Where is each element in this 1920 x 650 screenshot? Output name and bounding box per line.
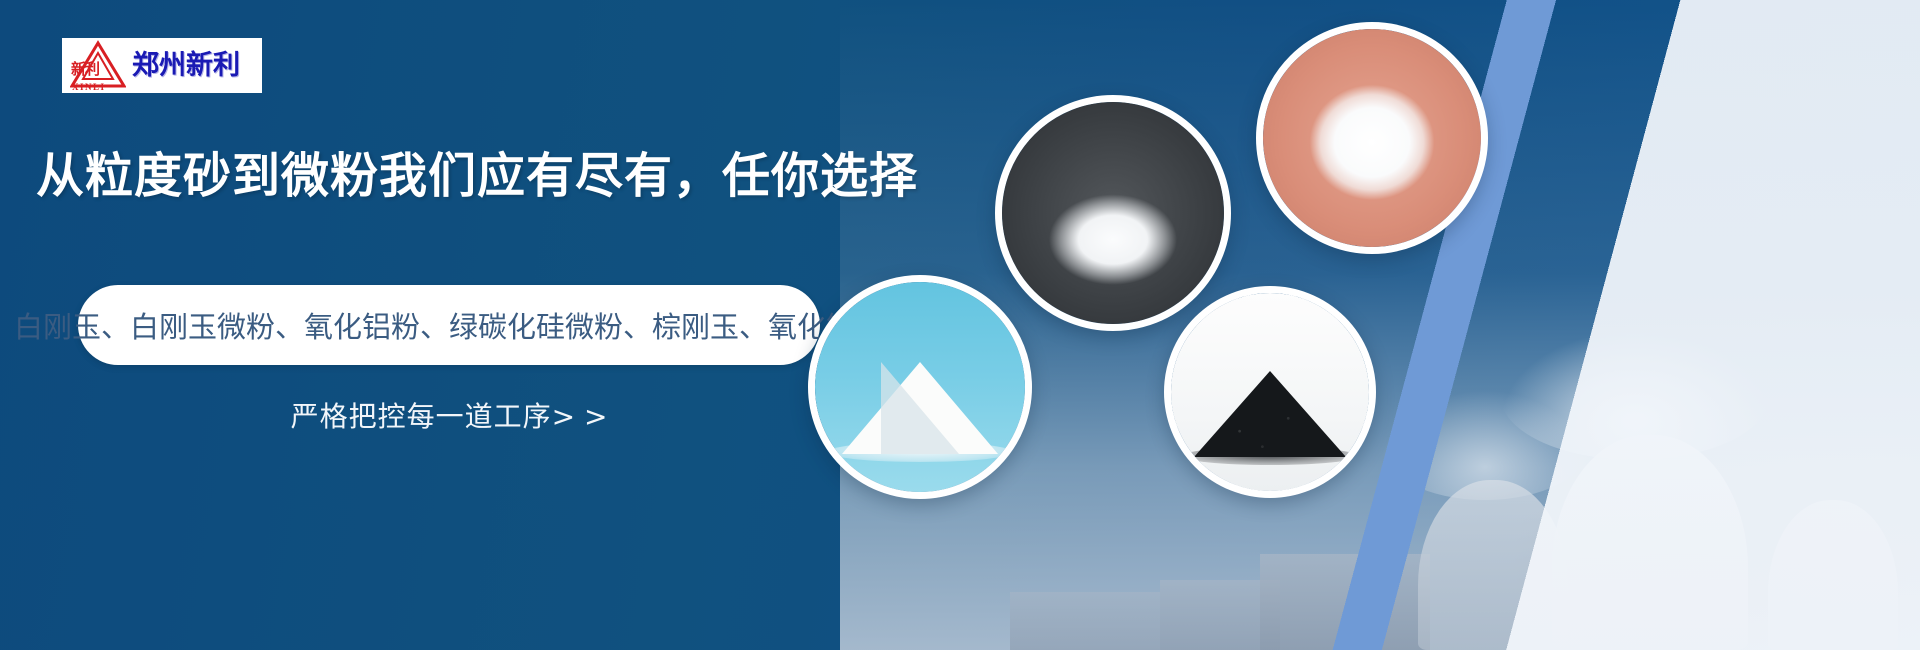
company-name: 郑州新利	[132, 51, 240, 81]
chevron-right-icon: > >	[552, 400, 608, 433]
product-photo-white-grain[interactable]	[995, 95, 1231, 331]
powder-cone-shade	[881, 362, 959, 454]
product-list-pill: 白刚玉、白刚玉微粉、氧化铝粉、绿碳化硅微粉、棕刚玉、氧化锆等	[78, 285, 820, 365]
product-photo-black-grit[interactable]	[1164, 286, 1376, 498]
product-photo-image	[815, 282, 1025, 492]
company-logo[interactable]: 新利 XINLI 郑州新利	[62, 38, 262, 93]
cta-link[interactable]: 严格把控每一道工序> >	[78, 395, 820, 435]
logo-mark-en: XINLI	[72, 83, 106, 92]
product-photo-image	[1263, 29, 1481, 247]
product-list-text: 白刚玉、白刚玉微粉、氧化铝粉、绿碳化硅微粉、棕刚玉、氧化锆等	[14, 304, 884, 346]
product-photo-image	[1002, 102, 1224, 324]
product-photo-white-cone[interactable]	[808, 275, 1032, 499]
page-title: 从粒度砂到微粉我们应有尽有，任你选择	[36, 145, 918, 207]
cta-label: 严格把控每一道工序	[291, 400, 552, 433]
triangle-logo-icon: 新利 XINLI	[70, 40, 126, 91]
product-photo-image	[1171, 293, 1369, 491]
logo-mark-cn: 新利	[71, 62, 99, 77]
promo-banner: 新利 XINLI 郑州新利 从粒度砂到微粉我们应有尽有，任你选择 白刚玉、白刚玉…	[0, 0, 1920, 650]
product-photo-white-powder[interactable]	[1256, 22, 1488, 254]
